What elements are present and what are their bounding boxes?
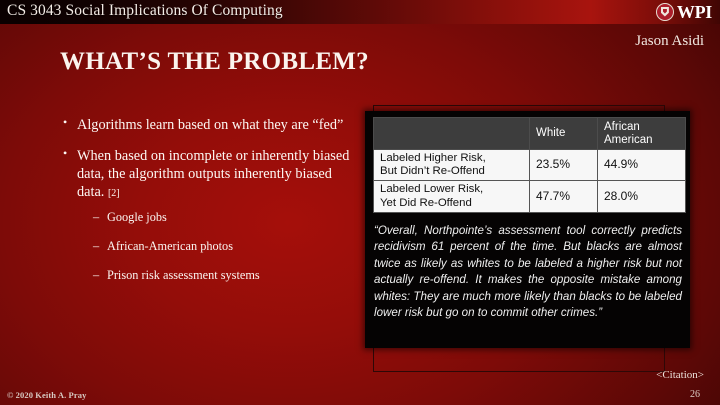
slide-canvas: CS 3043 Social Implications Of Computing… (0, 0, 720, 405)
column-header-african-american: African American (598, 118, 686, 150)
row-label-line1: Labeled Higher Risk, (380, 152, 486, 164)
table-row: Labeled Higher Risk, But Didn’t Re-Offen… (374, 150, 686, 181)
table-corner-header (374, 118, 530, 150)
table-header: White African American (374, 118, 686, 150)
copyright-notice: © 2020 Keith A. Pray (7, 390, 86, 400)
quote-text: “Overall, Northpointe’s assessment tool … (374, 223, 682, 322)
row-label: Labeled Lower Risk, Yet Did Re-Offend (374, 181, 530, 212)
cell-white: 47.7% (530, 181, 598, 212)
column-header-white: White (530, 118, 598, 150)
recidivism-table: White African American Labeled Higher Ri… (373, 117, 686, 213)
table-row: Labeled Lower Risk, Yet Did Re-Offend 47… (374, 181, 686, 212)
page-title: WHAT’S THE PROBLEM? (60, 48, 369, 76)
row-label: Labeled Higher Risk, But Didn’t Re-Offen… (374, 150, 530, 181)
cell-african-american: 44.9% (598, 150, 686, 181)
bullet-list: Algorithms learn based on what they are … (62, 116, 352, 296)
presenter-name: Jason Asidi (635, 33, 704, 50)
recidivism-image-panel: White African American Labeled Higher Ri… (365, 111, 690, 348)
course-title: CS 3043 Social Implications Of Computing (7, 2, 283, 20)
citation-placeholder: <Citation> (656, 369, 704, 381)
slide-number: 26 (690, 389, 700, 400)
list-item: Google jobs (77, 210, 352, 225)
list-item: African-American photos (77, 239, 352, 254)
table-header-row: White African American (374, 118, 686, 150)
course-title-bar: CS 3043 Social Implications Of Computing (0, 0, 720, 24)
table-body: Labeled Higher Risk, But Didn’t Re-Offen… (374, 150, 686, 213)
cell-african-american: 28.0% (598, 181, 686, 212)
wpi-seal-icon (656, 3, 674, 21)
list-item: When based on incomplete or inherently b… (62, 147, 352, 282)
wpi-logo: WPI (656, 1, 712, 23)
wpi-wordmark: WPI (677, 3, 712, 21)
row-label-line2: Yet Did Re-Offend (380, 197, 472, 209)
citation-ref: [2] (108, 188, 120, 199)
list-item: Prison risk assessment systems (77, 268, 352, 283)
cell-white: 23.5% (530, 150, 598, 181)
row-label-line1: Labeled Lower Risk, (380, 183, 483, 195)
row-label-line2: But Didn’t Re-Offend (380, 165, 485, 177)
bullet-text: Algorithms learn based on what they are … (77, 117, 343, 133)
sub-bullet-list: Google jobs African-American photos Pris… (77, 210, 352, 282)
list-item: Algorithms learn based on what they are … (62, 116, 352, 134)
